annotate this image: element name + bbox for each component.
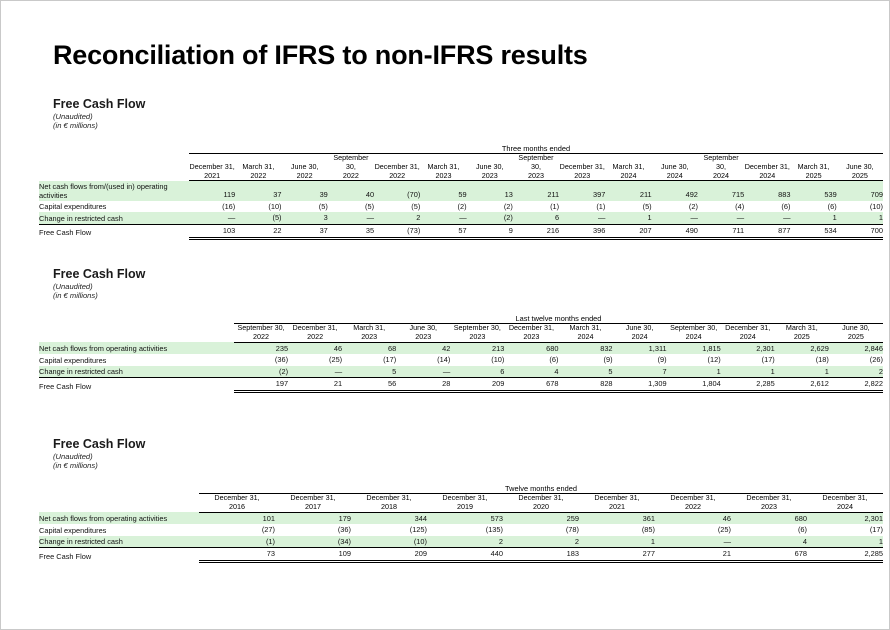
cell-r3-c1: (1)	[199, 536, 275, 548]
column-header-4: June 30,2023	[396, 324, 450, 342]
cell-r3-c9: —	[559, 212, 605, 224]
cell-r1-c2: 37	[235, 181, 281, 201]
column-header-7: December 31,2022	[655, 494, 731, 512]
cell-r1-c5: (70)	[374, 181, 420, 201]
cell-r1-c4: 40	[328, 181, 374, 201]
row-label: Capital expenditures	[39, 201, 189, 213]
cell-r3-c2: (5)	[235, 212, 281, 224]
row-label: Change in restricted cash	[39, 366, 234, 378]
cell-r4-c7: 828	[558, 378, 612, 392]
cell-r3-c2: (34)	[275, 536, 351, 548]
cell-r1-c9: 397	[559, 181, 605, 201]
table-corner-cell	[39, 324, 234, 342]
cell-r2-c5: (78)	[503, 524, 579, 536]
cell-r4-c8: 678	[731, 548, 807, 562]
cell-r2-c12: (4)	[698, 201, 744, 213]
column-header-15: June 30,2025	[837, 154, 883, 181]
row-label: Capital expenditures	[39, 354, 234, 366]
cell-r4-c6: 678	[504, 378, 558, 392]
free-cash-flow-table-annual: Twelve months endedDecember 31,2016Decem…	[39, 484, 883, 563]
section-subtitle-unaudited: (Unaudited)	[53, 282, 883, 291]
cell-r2-c12: (26)	[829, 354, 883, 366]
table-row: Net cash flows from/(used in) operating …	[39, 181, 883, 201]
section-subtitle-unaudited: (Unaudited)	[53, 452, 883, 461]
cell-r4-c5: 183	[503, 548, 579, 562]
cell-r2-c6: (6)	[504, 354, 558, 366]
column-header-8: September 30,2023	[513, 154, 559, 181]
section-three-months-ended: Free Cash Flow (Unaudited) (in € million…	[9, 97, 883, 240]
cell-r4-c8: 1,309	[613, 378, 667, 392]
cell-r1-c5: 259	[503, 512, 579, 524]
row-label: Free Cash Flow	[39, 224, 189, 238]
cell-r1-c12: 2,846	[829, 342, 883, 354]
column-header-1: September 30,2022	[234, 324, 288, 342]
cell-r4-c12: 2,822	[829, 378, 883, 392]
section-subtitle-units: (in € millions)	[53, 461, 883, 470]
cell-r1-c11: 492	[652, 181, 698, 201]
cell-r1-c8: 680	[731, 512, 807, 524]
table-row: Capital expenditures(16)(10)(5)(5)(5)(2)…	[39, 201, 883, 213]
spacer-cell	[39, 484, 199, 493]
column-header-4: September 30,2022	[328, 154, 374, 181]
column-header-13: December 31,2024	[744, 154, 790, 181]
cell-r2-c10: (5)	[605, 201, 651, 213]
page-title: Reconciliation of IFRS to non-IFRS resul…	[53, 40, 588, 71]
cell-r4-c2: 22	[235, 224, 281, 238]
cell-r3-c1: —	[189, 212, 235, 224]
column-header-3: March 31,2023	[342, 324, 396, 342]
cell-r2-c9: (12)	[667, 354, 721, 366]
column-header-10: March 31,2024	[605, 154, 651, 181]
cell-r2-c3: (125)	[351, 524, 427, 536]
cell-r2-c6: (85)	[579, 524, 655, 536]
table-header-row: December 31,2021March 31,2022June 30,202…	[39, 154, 883, 181]
cell-r1-c6: 680	[504, 342, 558, 354]
cell-r3-c8: 7	[613, 366, 667, 378]
cell-r1-c10: 211	[605, 181, 651, 201]
column-header-2: December 31,2017	[275, 494, 351, 512]
row-label: Change in restricted cash	[39, 536, 199, 548]
column-header-11: June 30,2024	[652, 154, 698, 181]
section-last-twelve-months-ended: Free Cash Flow (Unaudited) (in € million…	[9, 267, 883, 393]
cell-r2-c3: (5)	[282, 201, 328, 213]
cell-r2-c2: (25)	[288, 354, 342, 366]
cell-r3-c3: 3	[282, 212, 328, 224]
column-header-9: December 31,2023	[559, 154, 605, 181]
cell-r4-c4: 440	[427, 548, 503, 562]
cell-r2-c7: (9)	[558, 354, 612, 366]
cell-r1-c4: 42	[396, 342, 450, 354]
cell-r2-c5: (5)	[374, 201, 420, 213]
cell-r4-c7: 9	[467, 224, 513, 238]
table-span-label: Twelve months ended	[199, 484, 883, 493]
cell-r3-c7: —	[655, 536, 731, 548]
column-header-1: December 31,2021	[189, 154, 235, 181]
cell-r4-c4: 35	[328, 224, 374, 238]
column-header-2: December 31,2022	[288, 324, 342, 342]
row-label: Free Cash Flow	[39, 378, 234, 392]
column-header-4: December 31,2019	[427, 494, 503, 512]
cell-r3-c5: 2	[503, 536, 579, 548]
document-page: Reconciliation of IFRS to non-IFRS resul…	[0, 0, 890, 630]
cell-r2-c5: (10)	[450, 354, 504, 366]
cell-r3-c3: 5	[342, 366, 396, 378]
column-header-6: December 31,2023	[504, 324, 558, 342]
table-span-label: Last twelve months ended	[234, 314, 883, 323]
table-row: Change in restricted cash—(5)3—2—(2)6—1—…	[39, 212, 883, 224]
cell-r4-c2: 109	[275, 548, 351, 562]
cell-r3-c4: —	[396, 366, 450, 378]
cell-r2-c7: (2)	[467, 201, 513, 213]
cell-r2-c1: (16)	[189, 201, 235, 213]
cell-r2-c13: (6)	[744, 201, 790, 213]
column-header-6: December 31,2021	[579, 494, 655, 512]
column-header-12: September 30,2024	[698, 154, 744, 181]
cell-r2-c9: (17)	[807, 524, 883, 536]
cell-r3-c5: 6	[450, 366, 504, 378]
cell-r4-c11: 490	[652, 224, 698, 238]
table-total-row: Free Cash Flow103223735(73)5792163962074…	[39, 224, 883, 238]
row-label: Free Cash Flow	[39, 548, 199, 562]
cell-r1-c3: 39	[282, 181, 328, 201]
cell-r2-c4: (5)	[328, 201, 374, 213]
cell-r2-c8: (9)	[613, 354, 667, 366]
cell-r2-c2: (36)	[275, 524, 351, 536]
cell-r3-c6: —	[420, 212, 466, 224]
cell-r1-c1: 119	[189, 181, 235, 201]
cell-r4-c10: 2,285	[721, 378, 775, 392]
column-header-7: June 30,2023	[467, 154, 513, 181]
cell-r2-c11: (2)	[652, 201, 698, 213]
cell-r3-c13: —	[744, 212, 790, 224]
table-row: Change in restricted cash(1)(34)(10)221—…	[39, 536, 883, 548]
cell-r2-c11: (18)	[775, 354, 829, 366]
cell-r1-c3: 344	[351, 512, 427, 524]
table-corner-cell	[39, 154, 189, 181]
cell-r1-c8: 1,311	[613, 342, 667, 354]
column-header-5: September 30,2023	[450, 324, 504, 342]
table-row: Net cash flows from operating activities…	[39, 342, 883, 354]
free-cash-flow-table-quarterly: Three months endedDecember 31,2021March …	[39, 144, 883, 240]
table-span-label: Three months ended	[189, 144, 883, 153]
column-header-7: March 31,2024	[558, 324, 612, 342]
column-header-14: March 31,2025	[790, 154, 836, 181]
cell-r3-c15: 1	[837, 212, 883, 224]
cell-r2-c1: (36)	[234, 354, 288, 366]
cell-r3-c1: (2)	[234, 366, 288, 378]
cell-r4-c5: 209	[450, 378, 504, 392]
cell-r4-c3: 37	[282, 224, 328, 238]
column-header-12: June 30,2025	[829, 324, 883, 342]
cell-r2-c15: (10)	[837, 201, 883, 213]
section-subtitle-units: (in € millions)	[53, 291, 883, 300]
cell-r2-c3: (17)	[342, 354, 396, 366]
column-header-8: December 31,2023	[731, 494, 807, 512]
free-cash-flow-table-ltm: Last twelve months endedSeptember 30,202…	[39, 314, 883, 393]
table-header-row: September 30,2022December 31,2022March 3…	[39, 324, 883, 342]
cell-r1-c4: 573	[427, 512, 503, 524]
row-label: Change in restricted cash	[39, 212, 189, 224]
cell-r3-c3: (10)	[351, 536, 427, 548]
cell-r2-c4: (14)	[396, 354, 450, 366]
column-header-6: March 31,2023	[420, 154, 466, 181]
column-header-8: June 30,2024	[613, 324, 667, 342]
cell-r4-c6: 277	[579, 548, 655, 562]
table-row: Capital expenditures(27)(36)(125)(135)(7…	[39, 524, 883, 536]
cell-r3-c10: 1	[605, 212, 651, 224]
column-header-5: December 31,2022	[374, 154, 420, 181]
cell-r1-c15: 709	[837, 181, 883, 201]
cell-r4-c14: 534	[790, 224, 836, 238]
cell-r3-c4: 2	[427, 536, 503, 548]
table-row: Capital expenditures(36)(25)(17)(14)(10)…	[39, 354, 883, 366]
section-subtitle-units: (in € millions)	[53, 121, 883, 130]
cell-r2-c9: (1)	[559, 201, 605, 213]
cell-r3-c4: —	[328, 212, 374, 224]
cell-r3-c11: —	[652, 212, 698, 224]
cell-r4-c12: 711	[698, 224, 744, 238]
row-label: Net cash flows from/(used in) operating …	[39, 181, 189, 201]
column-header-9: September 30,2024	[667, 324, 721, 342]
column-header-2: March 31,2022	[235, 154, 281, 181]
cell-r1-c7: 46	[655, 512, 731, 524]
cell-r3-c5: 2	[374, 212, 420, 224]
cell-r1-c5: 213	[450, 342, 504, 354]
cell-r4-c10: 207	[605, 224, 651, 238]
cell-r4-c9: 1,804	[667, 378, 721, 392]
cell-r1-c2: 179	[275, 512, 351, 524]
row-label: Capital expenditures	[39, 524, 199, 536]
column-header-5: December 31,2020	[503, 494, 579, 512]
cell-r1-c6: 59	[420, 181, 466, 201]
column-header-10: December 31,2024	[721, 324, 775, 342]
cell-r2-c14: (6)	[790, 201, 836, 213]
table-span-header-row: Last twelve months ended	[39, 314, 883, 323]
cell-r2-c7: (25)	[655, 524, 731, 536]
cell-r1-c8: 211	[513, 181, 559, 201]
cell-r1-c1: 101	[199, 512, 275, 524]
cell-r1-c3: 68	[342, 342, 396, 354]
cell-r3-c14: 1	[790, 212, 836, 224]
cell-r4-c9: 2,285	[807, 548, 883, 562]
column-header-9: December 31,2024	[807, 494, 883, 512]
cell-r3-c2: —	[288, 366, 342, 378]
table-row: Change in restricted cash(2)—5—64571112	[39, 366, 883, 378]
column-header-1: December 31,2016	[199, 494, 275, 512]
column-header-11: March 31,2025	[775, 324, 829, 342]
section-heading: Free Cash Flow	[53, 437, 883, 452]
cell-r4-c1: 197	[234, 378, 288, 392]
table-header-row: December 31,2016December 31,2017December…	[39, 494, 883, 512]
cell-r4-c9: 396	[559, 224, 605, 238]
cell-r4-c3: 209	[351, 548, 427, 562]
cell-r4-c8: 216	[513, 224, 559, 238]
cell-r1-c7: 832	[558, 342, 612, 354]
cell-r4-c3: 56	[342, 378, 396, 392]
column-header-3: December 31,2018	[351, 494, 427, 512]
cell-r4-c5: (73)	[374, 224, 420, 238]
cell-r3-c8: 4	[731, 536, 807, 548]
table-corner-cell	[39, 494, 199, 512]
cell-r1-c9: 2,301	[807, 512, 883, 524]
cell-r3-c9: 1	[667, 366, 721, 378]
row-label: Net cash flows from operating activities	[39, 512, 199, 524]
table-row: Net cash flows from operating activities…	[39, 512, 883, 524]
cell-r2-c8: (6)	[731, 524, 807, 536]
cell-r2-c4: (135)	[427, 524, 503, 536]
cell-r1-c9: 1,815	[667, 342, 721, 354]
table-span-header-row: Twelve months ended	[39, 484, 883, 493]
cell-r2-c1: (27)	[199, 524, 275, 536]
cell-r1-c11: 2,629	[775, 342, 829, 354]
cell-r3-c6: 1	[579, 536, 655, 548]
cell-r1-c13: 883	[744, 181, 790, 201]
cell-r3-c11: 1	[775, 366, 829, 378]
cell-r4-c1: 103	[189, 224, 235, 238]
cell-r3-c8: 6	[513, 212, 559, 224]
cell-r4-c4: 28	[396, 378, 450, 392]
cell-r3-c6: 4	[504, 366, 558, 378]
section-subtitle-unaudited: (Unaudited)	[53, 112, 883, 121]
table-span-header-row: Three months ended	[39, 144, 883, 153]
cell-r4-c1: 73	[199, 548, 275, 562]
cell-r4-c7: 21	[655, 548, 731, 562]
cell-r3-c9: 1	[807, 536, 883, 548]
cell-r1-c12: 715	[698, 181, 744, 201]
cell-r4-c15: 700	[837, 224, 883, 238]
cell-r3-c7: (2)	[467, 212, 513, 224]
cell-r4-c11: 2,612	[775, 378, 829, 392]
cell-r3-c12: 2	[829, 366, 883, 378]
spacer-cell	[39, 144, 189, 153]
cell-r3-c12: —	[698, 212, 744, 224]
cell-r3-c10: 1	[721, 366, 775, 378]
cell-r1-c1: 235	[234, 342, 288, 354]
cell-r1-c7: 13	[467, 181, 513, 201]
cell-r1-c2: 46	[288, 342, 342, 354]
cell-r2-c8: (1)	[513, 201, 559, 213]
cell-r2-c10: (17)	[721, 354, 775, 366]
cell-r1-c14: 539	[790, 181, 836, 201]
cell-r1-c10: 2,301	[721, 342, 775, 354]
column-header-3: June 30,2022	[282, 154, 328, 181]
cell-r4-c2: 21	[288, 378, 342, 392]
section-heading: Free Cash Flow	[53, 267, 883, 282]
cell-r4-c13: 877	[744, 224, 790, 238]
table-total-row: Free Cash Flow73109209440183277216782,28…	[39, 548, 883, 562]
spacer-cell	[39, 314, 234, 323]
section-heading: Free Cash Flow	[53, 97, 883, 112]
cell-r1-c6: 361	[579, 512, 655, 524]
table-total-row: Free Cash Flow1972156282096788281,3091,8…	[39, 378, 883, 392]
cell-r2-c2: (10)	[235, 201, 281, 213]
cell-r3-c7: 5	[558, 366, 612, 378]
section-twelve-months-ended: Free Cash Flow (Unaudited) (in € million…	[9, 437, 883, 563]
cell-r2-c6: (2)	[420, 201, 466, 213]
document-sheet: Reconciliation of IFRS to non-IFRS resul…	[9, 7, 883, 625]
cell-r4-c6: 57	[420, 224, 466, 238]
row-label: Net cash flows from operating activities	[39, 342, 234, 354]
